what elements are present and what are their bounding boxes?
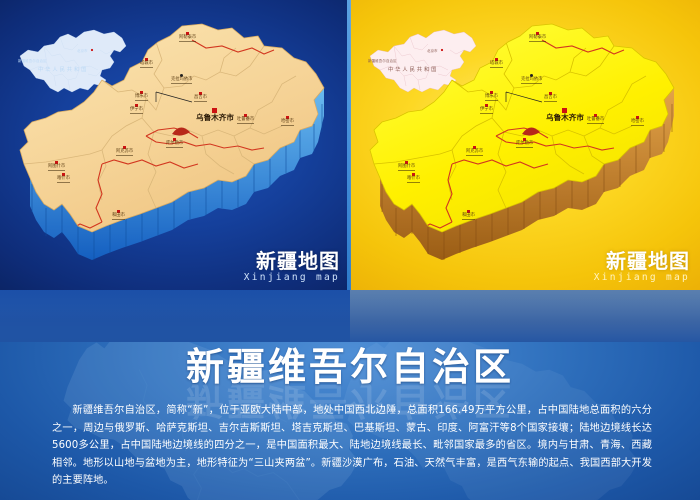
reflection-yellow: 新疆地图 Xinjiang map xyxy=(350,290,700,342)
panel-blue[interactable]: 新疆维吾尔自治区 北京市 中华人民共和国 xyxy=(0,0,350,290)
city-marker[interactable]: 阿勒泰市 xyxy=(179,32,196,42)
watermark-cn: 新疆地图 xyxy=(594,251,690,271)
watermark-en: Xinjiang map xyxy=(244,273,340,283)
panel-divider xyxy=(347,0,351,290)
city-label: 喀什市 xyxy=(407,177,420,183)
watermark-cn: 新疆地图 xyxy=(244,251,340,271)
page-title: 新疆维吾尔自治区 xyxy=(0,342,700,391)
city-label: 吐鲁番市 xyxy=(587,118,604,124)
reflection-blue: 新疆地图 Xinjiang map xyxy=(0,290,350,342)
city-marker[interactable]: 克拉玛依市 xyxy=(521,74,542,84)
city-label: 哈密市 xyxy=(631,120,644,126)
city-label: 库尔勒市 xyxy=(166,142,183,148)
city-label: 阿图什市 xyxy=(48,165,65,171)
panel-yellow[interactable]: 新疆维吾尔自治区 北京市 中华人民共和国 xyxy=(350,0,700,290)
city-label: 昌吉市 xyxy=(544,96,557,102)
city-label: 阿图什市 xyxy=(398,165,415,171)
poster-stage: 新疆维吾尔自治区 北京市 中华人民共和国 xyxy=(0,0,700,500)
city-marker[interactable]: 克拉玛依市 xyxy=(171,74,192,84)
city-marker[interactable]: 喀什市 xyxy=(407,173,420,183)
watermark-en: Xinjiang map xyxy=(594,273,690,283)
city-label: 昌吉市 xyxy=(194,96,207,102)
city-label: 伊宁市 xyxy=(130,108,143,114)
city-marker[interactable]: 昌吉市 xyxy=(194,92,207,102)
city-label: 和田市 xyxy=(112,214,125,220)
city-marker[interactable]: 吐鲁番市 xyxy=(237,114,254,124)
city-marker[interactable]: 阿图什市 xyxy=(48,161,65,171)
map-panels: 新疆维吾尔自治区 北京市 中华人民共和国 xyxy=(0,0,700,290)
city-label: 阿克苏市 xyxy=(116,150,133,156)
city-marker[interactable]: 哈密市 xyxy=(281,116,294,126)
city-marker[interactable]: 喀什市 xyxy=(57,173,70,183)
description-paragraph: 新疆维吾尔自治区，简称“新”，位于亚欧大陆中部，地处中国西北边陲，总面积166.… xyxy=(52,402,652,490)
city-label: 克拉玛依市 xyxy=(171,78,192,84)
city-marker[interactable]: 吐鲁番市 xyxy=(587,114,604,124)
city-label: 阿勒泰市 xyxy=(179,36,196,42)
city-label: 吐鲁番市 xyxy=(237,118,254,124)
city-label: 博乐市 xyxy=(485,95,498,101)
city-marker[interactable]: 伊宁市 xyxy=(130,104,143,114)
city-label: 伊宁市 xyxy=(480,108,493,114)
info-section: 新疆维吾尔自治区 新疆维吾尔自治区 新疆维吾尔自治区，简称“新”，位于亚欧大陆中… xyxy=(0,342,700,500)
city-marker[interactable]: 和田市 xyxy=(462,210,475,220)
city-label: 喀什市 xyxy=(57,177,70,183)
city-marker[interactable]: 昌吉市 xyxy=(544,92,557,102)
city-label: 塔城市 xyxy=(490,62,503,68)
map-reflection-band: 新疆地图 Xinjiang map 新疆地图 Xinjiang map xyxy=(0,290,700,342)
city-label: 乌鲁木齐市 xyxy=(546,114,584,122)
city-label: 和田市 xyxy=(462,214,475,220)
city-marker[interactable]: 和田市 xyxy=(112,210,125,220)
xinjiang-map-yellow[interactable]: 阿勒泰市 塔城市 克拉玛依市 昌吉市 乌鲁木齐市 xyxy=(356,14,696,269)
xinjiang-map-blue[interactable]: 阿勒泰市 塔城市 克拉玛依市 昌吉市 乌鲁木齐市 xyxy=(6,14,346,269)
city-label: 阿克苏市 xyxy=(466,150,483,156)
city-label: 博乐市 xyxy=(135,95,148,101)
city-label: 库尔勒市 xyxy=(516,142,533,148)
city-marker-capital[interactable]: 乌鲁木齐市 xyxy=(546,108,584,122)
city-marker-capital[interactable]: 乌鲁木齐市 xyxy=(196,108,234,122)
city-marker[interactable]: 库尔勒市 xyxy=(516,138,533,148)
city-label: 乌鲁木齐市 xyxy=(196,114,234,122)
city-label: 哈密市 xyxy=(281,120,294,126)
city-marker[interactable]: 库尔勒市 xyxy=(166,138,183,148)
city-marker[interactable]: 博乐市 xyxy=(135,91,148,101)
city-label: 阿勒泰市 xyxy=(529,36,546,42)
city-marker[interactable]: 阿克苏市 xyxy=(116,146,133,156)
city-marker[interactable]: 博乐市 xyxy=(485,91,498,101)
watermark-yellow: 新疆地图 Xinjiang map xyxy=(594,251,690,283)
city-marker[interactable]: 阿克苏市 xyxy=(466,146,483,156)
city-label: 克拉玛依市 xyxy=(521,78,542,84)
city-label: 塔城市 xyxy=(140,62,153,68)
watermark-blue: 新疆地图 Xinjiang map xyxy=(244,251,340,283)
city-marker[interactable]: 阿勒泰市 xyxy=(529,32,546,42)
city-marker[interactable]: 塔城市 xyxy=(140,58,153,68)
city-marker[interactable]: 塔城市 xyxy=(490,58,503,68)
city-marker[interactable]: 伊宁市 xyxy=(480,104,493,114)
city-marker[interactable]: 哈密市 xyxy=(631,116,644,126)
city-marker[interactable]: 阿图什市 xyxy=(398,161,415,171)
